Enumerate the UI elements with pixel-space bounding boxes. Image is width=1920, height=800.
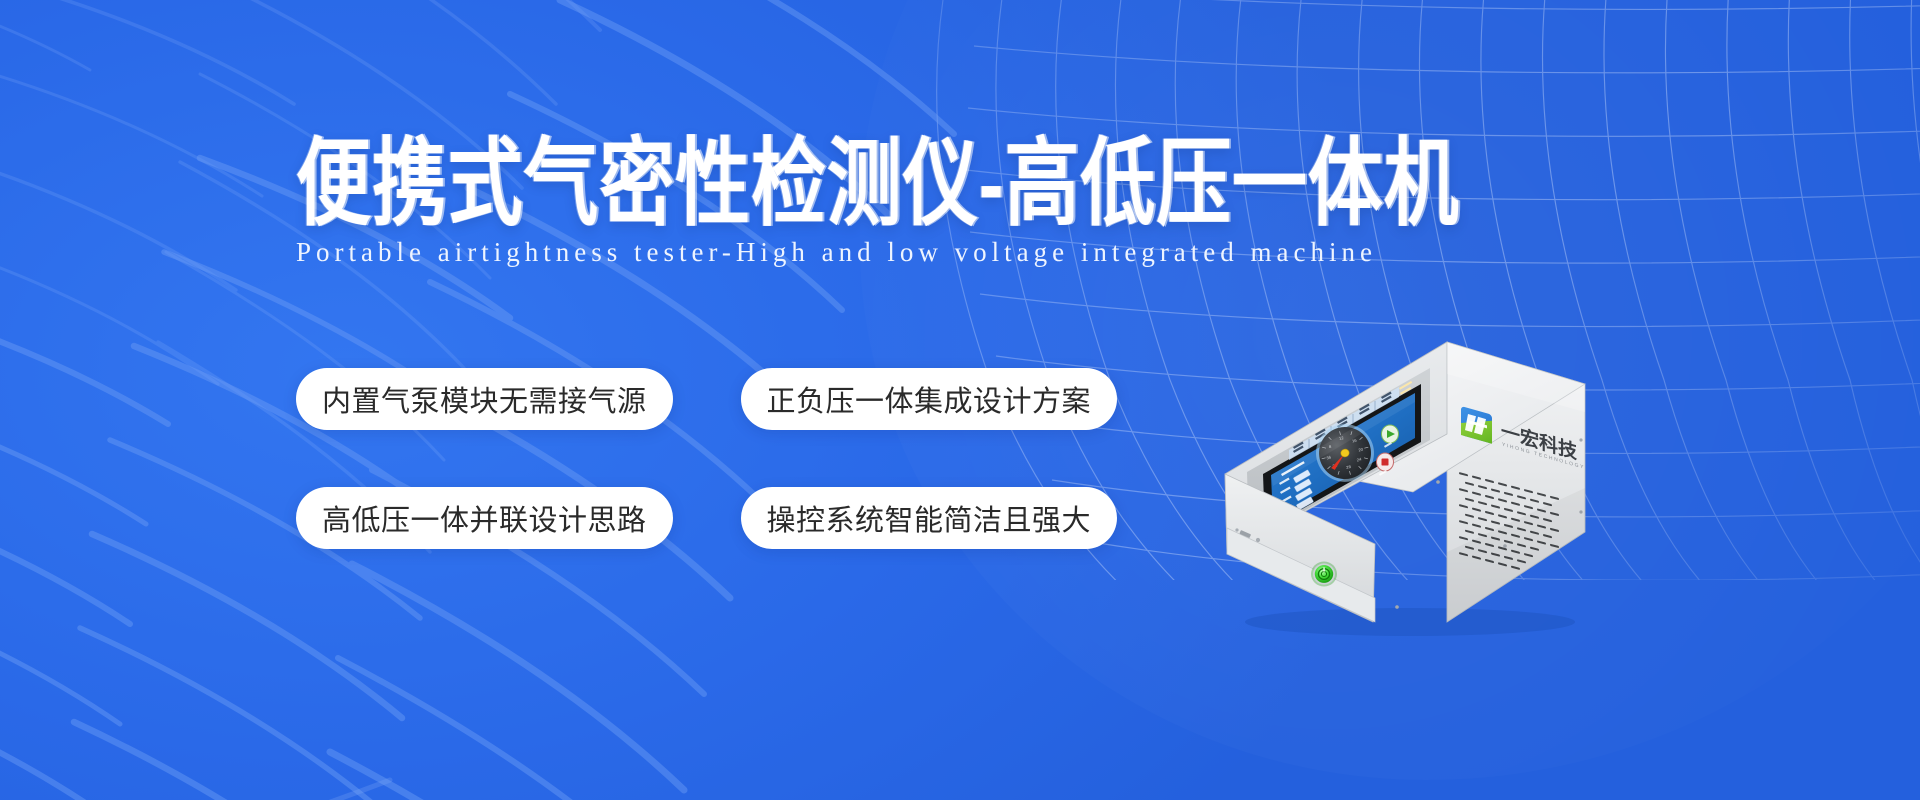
feature-pill-row: 内置气泵模块无需接气源 正负压一体集成设计方案 — [296, 368, 1116, 430]
feature-pill-1[interactable]: 内置气泵模块无需接气源 — [296, 368, 673, 430]
feature-pill-list: 内置气泵模块无需接气源 正负压一体集成设计方案 高低压一体并联设计思路 操控系统… — [296, 368, 1116, 549]
feature-pill-3[interactable]: 高低压一体并联设计思路 — [296, 487, 673, 549]
page-title: 便携式气密性检测仪-高低压一体机 — [296, 136, 1606, 234]
feature-pill-row: 高低压一体并联设计思路 操控系统智能简洁且强大 — [296, 487, 1116, 549]
feature-pill-2[interactable]: 正负压一体集成设计方案 — [741, 368, 1118, 430]
product-device-image: 12 16 20 24 28 32 36 8 — [1185, 322, 1605, 642]
screen-stop-button — [1377, 453, 1394, 471]
promo-banner: 便携式气密性检测仪-高低压一体机 Portable airtightness t… — [0, 0, 1920, 800]
feature-pill-4[interactable]: 操控系统智能简洁且强大 — [741, 487, 1118, 549]
page-subtitle: Portable airtightness tester-High and lo… — [296, 236, 1377, 268]
screen-start-button — [1382, 425, 1399, 443]
power-button — [1311, 562, 1337, 587]
headline-block: 便携式气密性检测仪-高低压一体机 Portable airtightness t… — [296, 136, 1626, 214]
